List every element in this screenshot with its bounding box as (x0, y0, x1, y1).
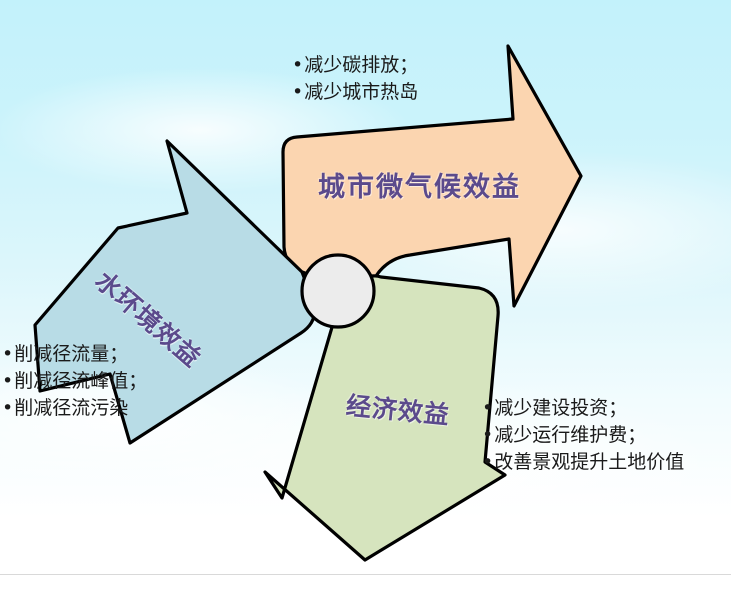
list-item-label: 削减径流量； (14, 343, 128, 365)
arrow-label-micro-climate: 城市微气候效益 (318, 165, 521, 204)
list-item-label: 减少碳排放； (304, 54, 418, 76)
bullet-marker-icon: • (292, 81, 303, 103)
bullet-list-water-environment: •削减径流量； •削减径流峰值； •削减径流污染 (2, 341, 147, 422)
list-item-label: 改善景观提升土地价值 (494, 451, 684, 473)
list-item-label: 削减径流峰值； (14, 370, 147, 392)
bullet-marker-icon: • (2, 370, 13, 392)
list-item: •改善景观提升土地价值 (482, 449, 684, 476)
diagram-canvas: 城市微气候效益 水环境效益 经济效益 •减少碳排放； •减少城市热岛 •削减径流… (0, 0, 731, 589)
list-item-label: 减少运行维护费； (494, 424, 646, 446)
bullet-marker-icon: • (482, 397, 493, 419)
bullet-marker-icon: • (482, 451, 493, 473)
bullet-marker-icon: • (482, 424, 493, 446)
bullet-marker-icon: • (2, 397, 13, 419)
list-item: •减少城市热岛 (292, 79, 418, 106)
list-item: •减少运行维护费； (482, 422, 684, 449)
bullet-marker-icon: • (2, 343, 13, 365)
list-item-label: 减少城市热岛 (304, 81, 418, 103)
list-item-label: 削减径流污染 (14, 397, 128, 419)
list-item: •削减径流峰值； (2, 368, 147, 395)
bullet-list-micro-climate: •减少碳排放； •减少城市热岛 (292, 52, 418, 106)
bullet-list-economic: •减少建设投资； •减少运行维护费； •改善景观提升土地价值 (482, 395, 684, 476)
list-item: •削减径流量； (2, 341, 147, 368)
list-item-label: 减少建设投资； (494, 397, 627, 419)
list-item: •减少碳排放； (292, 52, 418, 79)
center-hub-circle (302, 255, 374, 327)
list-item: •减少建设投资； (482, 395, 684, 422)
list-item: •削减径流污染 (2, 395, 147, 422)
bullet-marker-icon: • (292, 54, 303, 76)
